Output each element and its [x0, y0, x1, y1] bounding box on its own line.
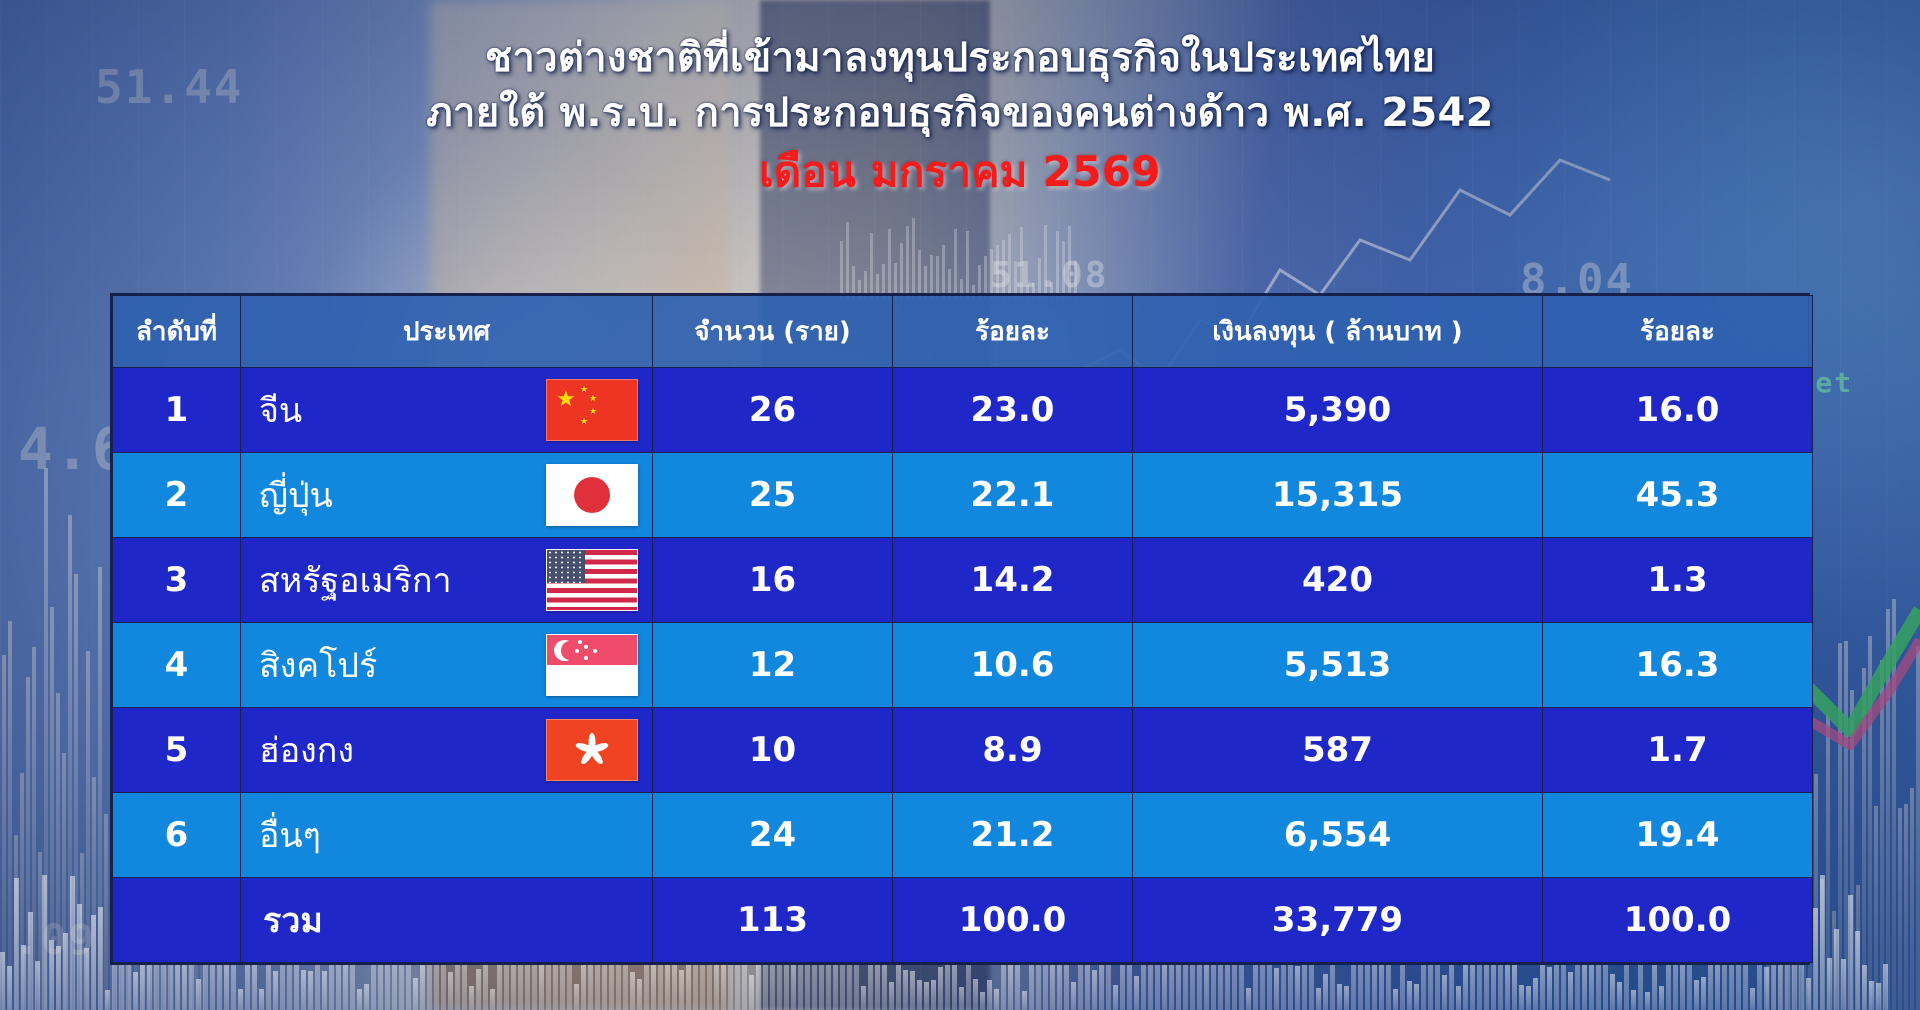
cell-count: 113	[653, 878, 893, 963]
cell-pct2: 1.7	[1543, 708, 1813, 793]
flag-usa-icon	[546, 549, 638, 611]
table-row: 1จีน★★★★★2623.05,39016.0	[113, 368, 1813, 453]
cell-amount: 420	[1133, 538, 1543, 623]
country-name: จีน	[259, 383, 302, 437]
cell-country: สหรัฐอเมริกา	[241, 538, 653, 623]
cell-country: ฮ่องกง	[241, 708, 653, 793]
country-name: สหรัฐอเมริกา	[259, 553, 452, 607]
cell-count: 12	[653, 623, 893, 708]
cell-pct1: 10.6	[893, 623, 1133, 708]
cell-amount: 6,554	[1133, 793, 1543, 878]
cell-rank: 2	[113, 453, 241, 538]
cell-pct2: 16.0	[1543, 368, 1813, 453]
cell-amount: 5,390	[1133, 368, 1543, 453]
cell-country-total: รวม	[241, 878, 653, 963]
cell-pct1: 21.2	[893, 793, 1133, 878]
cell-pct1: 22.1	[893, 453, 1133, 538]
title-line-1: ชาวต่างชาติที่เข้ามาลงทุนประกอบธุรกิจในป…	[0, 34, 1920, 83]
cell-rank: 6	[113, 793, 241, 878]
investment-table: ลำดับที่ ประเทศ จำนวน (ราย) ร้อยละ เงินล…	[110, 293, 1810, 965]
total-label: รวม	[263, 893, 323, 947]
cell-count: 10	[653, 708, 893, 793]
cell-pct2: 45.3	[1543, 453, 1813, 538]
cell-pct2: 1.3	[1543, 538, 1813, 623]
table-row: 2ญี่ปุ่น2522.115,31545.3	[113, 453, 1813, 538]
column-header-country: ประเทศ	[241, 296, 653, 368]
table-header: ลำดับที่ ประเทศ จำนวน (ราย) ร้อยละ เงินล…	[113, 296, 1813, 368]
flag-hongkong-icon	[546, 719, 638, 781]
column-header-amount: เงินลงทุน ( ล้านบาท )	[1133, 296, 1543, 368]
title-line-3-month: เดือน มกราคม 2569	[0, 146, 1920, 197]
country-name: ญี่ปุ่น	[259, 468, 333, 522]
cell-rank: 1	[113, 368, 241, 453]
title-line-2: ภายใต้ พ.ร.บ. การประกอบธุรกิจของคนต่างด้…	[0, 89, 1920, 138]
flag-china-icon: ★★★★★	[546, 379, 638, 441]
cell-rank	[113, 878, 241, 963]
cell-pct1: 8.9	[893, 708, 1133, 793]
cell-amount: 5,513	[1133, 623, 1543, 708]
column-header-pct1: ร้อยละ	[893, 296, 1133, 368]
cell-rank: 4	[113, 623, 241, 708]
cell-amount: 33,779	[1133, 878, 1543, 963]
cell-pct1: 100.0	[893, 878, 1133, 963]
cell-rank: 3	[113, 538, 241, 623]
column-header-rank: ลำดับที่	[113, 296, 241, 368]
page-title: ชาวต่างชาติที่เข้ามาลงทุนประกอบธุรกิจในป…	[0, 34, 1920, 197]
cell-count: 24	[653, 793, 893, 878]
table-row: 3สหรัฐอเมริกา1614.24201.3	[113, 538, 1813, 623]
cell-rank: 5	[113, 708, 241, 793]
table-row: 4สิงคโปร์1210.65,51316.3	[113, 623, 1813, 708]
cell-country: จีน★★★★★	[241, 368, 653, 453]
cell-count: 25	[653, 453, 893, 538]
table-row: 5ฮ่องกง108.95871.7	[113, 708, 1813, 793]
cell-pct1: 14.2	[893, 538, 1133, 623]
cell-pct2: 100.0	[1543, 878, 1813, 963]
country-name: อื่นๆ	[259, 808, 321, 862]
data-table: ลำดับที่ ประเทศ จำนวน (ราย) ร้อยละ เงินล…	[112, 295, 1813, 963]
cell-amount: 587	[1133, 708, 1543, 793]
column-header-count: จำนวน (ราย)	[653, 296, 893, 368]
cell-country: ญี่ปุ่น	[241, 453, 653, 538]
cell-country: อื่นๆ	[241, 793, 653, 878]
country-name: สิงคโปร์	[259, 638, 377, 692]
flag-japan-icon	[546, 464, 638, 526]
table-total-row: รวม113100.033,779100.0	[113, 878, 1813, 963]
cell-pct2: 19.4	[1543, 793, 1813, 878]
table-body: 1จีน★★★★★2623.05,39016.02ญี่ปุ่น2522.115…	[113, 368, 1813, 963]
cell-amount: 15,315	[1133, 453, 1543, 538]
country-name: ฮ่องกง	[259, 723, 354, 777]
table-header-row: ลำดับที่ ประเทศ จำนวน (ราย) ร้อยละ เงินล…	[113, 296, 1813, 368]
cell-count: 26	[653, 368, 893, 453]
column-header-pct2: ร้อยละ	[1543, 296, 1813, 368]
cell-country: สิงคโปร์	[241, 623, 653, 708]
cell-count: 16	[653, 538, 893, 623]
cell-pct1: 23.0	[893, 368, 1133, 453]
flag-singapore-icon	[546, 634, 638, 696]
cell-pct2: 16.3	[1543, 623, 1813, 708]
table-row: 6อื่นๆ2421.26,55419.4	[113, 793, 1813, 878]
